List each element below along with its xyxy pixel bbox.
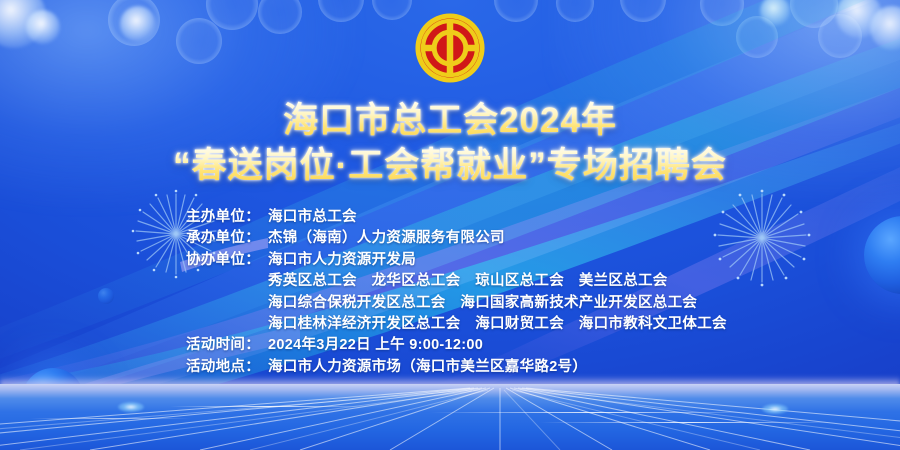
info-label: 活动时间： [186, 335, 268, 356]
info-value: 海口桂林洋经济开发区总工会 海口财贸工会 海口市教科文卫体工会 [186, 314, 900, 335]
info-value: 海口市人力资源开发局 [268, 250, 900, 271]
poster-content: 海口市总工会2024年 “春送岗位·工会帮就业”专场招聘会 主办单位： 海口市总… [0, 0, 900, 450]
info-value: 秀英区总工会 龙华区总工会 琼山区总工会 美兰区总工会 [186, 271, 900, 292]
title-line-1: 海口市总工会2024年 [0, 101, 900, 142]
info-label: 协办单位： [186, 250, 268, 271]
info-value: 海口市人力资源市场（海口市美兰区嘉华路2号） [268, 357, 900, 378]
info-row-event-time: 活动时间： 2024年3月22日 上午 9:00-12:00 [186, 335, 900, 356]
info-value: 海口综合保税开发区总工会 海口国家高新技术产业开发区总工会 [186, 293, 900, 314]
recruitment-poster: 海口市总工会2024年 “春送岗位·工会帮就业”专场招聘会 主办单位： 海口市总… [0, 0, 900, 450]
info-row-coorganizer-cont-1: 秀英区总工会 龙华区总工会 琼山区总工会 美兰区总工会 [186, 271, 900, 292]
info-row-coorganizer-cont-2: 海口综合保税开发区总工会 海口国家高新技术产业开发区总工会 [186, 293, 900, 314]
info-row-event-location: 活动地点： 海口市人力资源市场（海口市美兰区嘉华路2号） [186, 357, 900, 378]
title-line-2: “春送岗位·工会帮就业”专场招聘会 [0, 146, 900, 187]
info-value: 杰锦（海南）人力资源服务有限公司 [268, 228, 900, 249]
info-row-undertaker: 承办单位： 杰锦（海南）人力资源服务有限公司 [186, 228, 900, 249]
info-value: 海口市总工会 [268, 207, 900, 228]
info-label: 承办单位： [186, 228, 268, 249]
info-label: 活动地点： [186, 357, 268, 378]
poster-title: 海口市总工会2024年 “春送岗位·工会帮就业”专场招聘会 [0, 101, 900, 186]
acftu-union-emblem-icon [414, 12, 486, 84]
event-info-block: 主办单位： 海口市总工会 承办单位： 杰锦（海南）人力资源服务有限公司 协办单位… [0, 207, 900, 378]
info-row-organizer: 主办单位： 海口市总工会 [186, 207, 900, 228]
info-row-coorganizer-cont-3: 海口桂林洋经济开发区总工会 海口财贸工会 海口市教科文卫体工会 [186, 314, 900, 335]
info-row-coorganizer: 协办单位： 海口市人力资源开发局 [186, 250, 900, 271]
info-value: 2024年3月22日 上午 9:00-12:00 [268, 335, 900, 356]
info-label: 主办单位： [186, 207, 268, 228]
